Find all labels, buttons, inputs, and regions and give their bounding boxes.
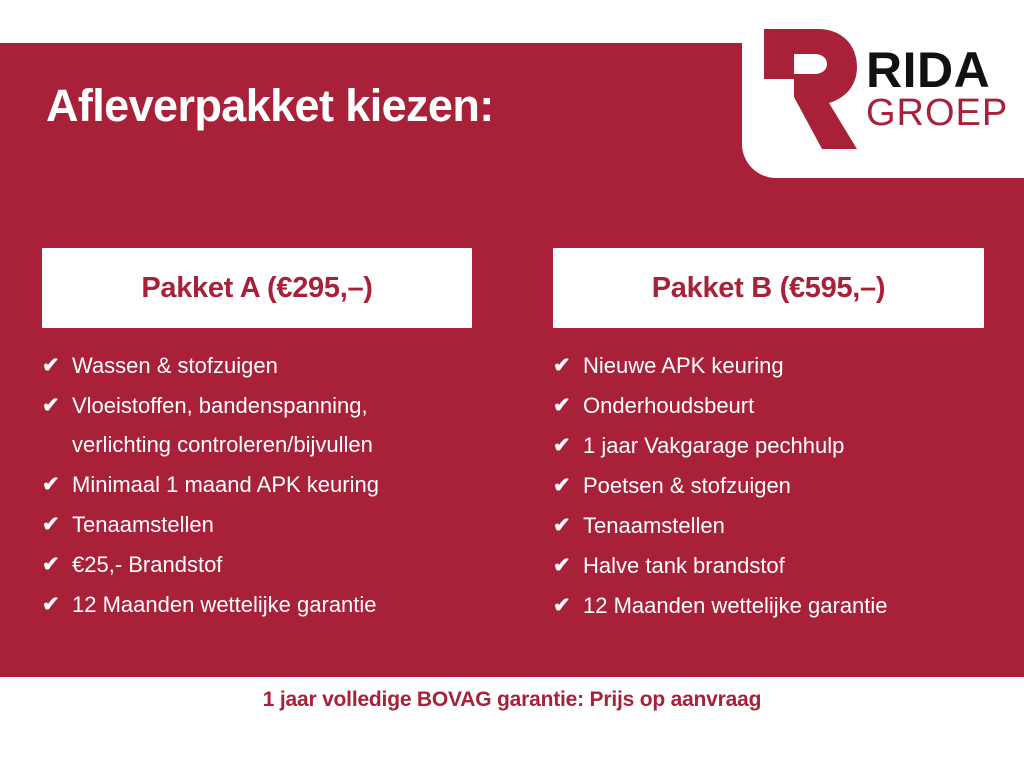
check-icon: ✔ [42, 346, 72, 385]
check-icon: ✔ [42, 545, 72, 584]
check-icon: ✔ [553, 546, 583, 585]
page-title: Afleverpakket kiezen: [46, 80, 494, 132]
slide-root: RIDA GROEP Afleverpakket kiezen: Pakket … [0, 0, 1024, 768]
list-item: ✔ Poetsen & stofzuigen [553, 466, 984, 505]
feature-label: Poetsen & stofzuigen [583, 466, 983, 505]
brand-wordmark: RIDA GROEP [866, 47, 1008, 132]
feature-label: Vloeistoffen, bandenspanning, verlichtin… [72, 386, 464, 464]
check-icon: ✔ [553, 586, 583, 625]
list-item: ✔ Tenaamstellen [553, 506, 984, 545]
check-icon: ✔ [553, 466, 583, 505]
check-icon: ✔ [553, 386, 583, 425]
list-item: ✔ 12 Maanden wettelijke garantie [42, 585, 472, 624]
check-icon: ✔ [42, 465, 72, 504]
package-b-header: Pakket B (€595,–) [553, 248, 984, 328]
feature-label: Nieuwe APK keuring [583, 346, 983, 385]
list-item: ✔ Wassen & stofzuigen [42, 346, 472, 385]
package-column-b: Pakket B (€595,–) ✔ Nieuwe APK keuring ✔… [553, 248, 984, 626]
feature-label: Tenaamstellen [72, 505, 464, 544]
feature-label: Minimaal 1 maand APK keuring [72, 465, 464, 504]
list-item: ✔ Nieuwe APK keuring [553, 346, 984, 385]
check-icon: ✔ [553, 346, 583, 385]
feature-label: Halve tank brandstof [583, 546, 983, 585]
feature-label: 1 jaar Vakgarage pechhulp [583, 426, 983, 465]
feature-label: 12 Maanden wettelijke garantie [583, 586, 983, 625]
footer-note: 1 jaar volledige BOVAG garantie: Prijs o… [263, 688, 761, 712]
feature-label: Tenaamstellen [583, 506, 983, 545]
brand-name-primary: RIDA [866, 47, 1008, 94]
feature-label: 12 Maanden wettelijke garantie [72, 585, 464, 624]
check-icon: ✔ [553, 506, 583, 545]
package-b-feature-list: ✔ Nieuwe APK keuring ✔ Onderhoudsbeurt ✔… [553, 346, 984, 625]
list-item: ✔ Tenaamstellen [42, 505, 472, 544]
package-a-title: Pakket A (€295,–) [141, 272, 372, 305]
check-icon: ✔ [553, 426, 583, 465]
list-item: ✔ Vloeistoffen, bandenspanning, verlicht… [42, 386, 472, 464]
list-item: ✔ Onderhoudsbeurt [553, 386, 984, 425]
list-item: ✔ €25,- Brandstof [42, 545, 472, 584]
check-icon: ✔ [42, 386, 72, 425]
brand-name-secondary: GROEP [866, 96, 1008, 132]
list-item: ✔ Minimaal 1 maand APK keuring [42, 465, 472, 504]
list-item: ✔ 1 jaar Vakgarage pechhulp [553, 426, 984, 465]
check-icon: ✔ [42, 505, 72, 544]
package-a-feature-list: ✔ Wassen & stofzuigen ✔ Vloeistoffen, ba… [42, 346, 472, 624]
list-item: ✔ 12 Maanden wettelijke garantie [553, 586, 984, 625]
brand-logo-plate: RIDA GROEP [742, 0, 1024, 178]
package-a-header: Pakket A (€295,–) [42, 248, 472, 328]
check-icon: ✔ [42, 585, 72, 624]
rida-r-monogram-icon [756, 27, 860, 151]
package-column-a: Pakket A (€295,–) ✔ Wassen & stofzuigen … [42, 248, 472, 625]
package-b-title: Pakket B (€595,–) [652, 272, 886, 305]
footer-bar: 1 jaar volledige BOVAG garantie: Prijs o… [0, 677, 1024, 768]
feature-label: Wassen & stofzuigen [72, 346, 464, 385]
feature-label: €25,- Brandstof [72, 545, 464, 584]
list-item: ✔ Halve tank brandstof [553, 546, 984, 585]
feature-label: Onderhoudsbeurt [583, 386, 983, 425]
